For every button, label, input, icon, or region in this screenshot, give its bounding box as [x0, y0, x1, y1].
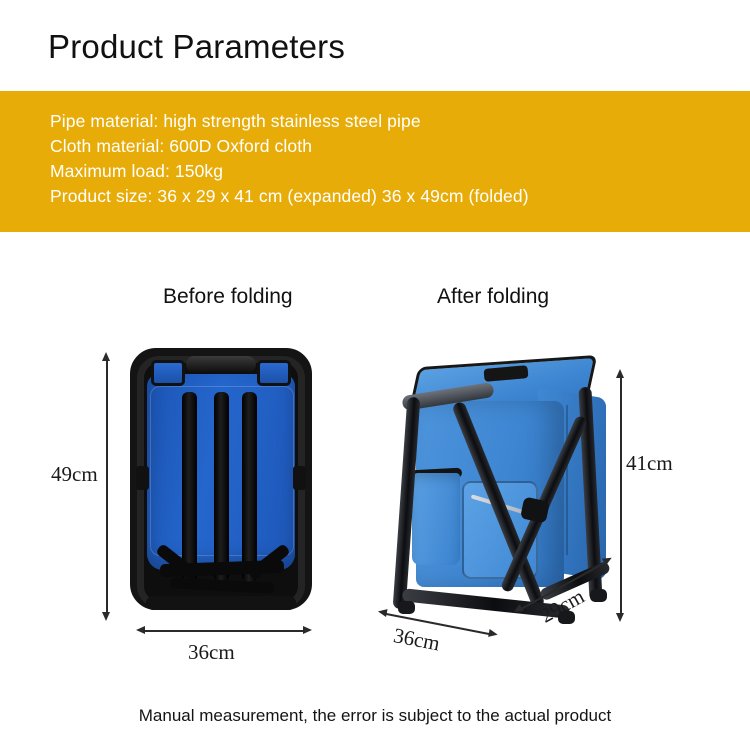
- shoulder-strap-right: [242, 392, 257, 582]
- bag-side-seam: [566, 405, 568, 555]
- arrow-head-left: [377, 607, 387, 617]
- shoulder-strap-center: [214, 392, 229, 582]
- arrow-head-up: [616, 369, 624, 378]
- caption-before-folding: Before folding: [163, 285, 293, 309]
- figure-before-folding: 49cm 36cm: [70, 330, 370, 675]
- dimension-label-width: 36cm: [188, 640, 235, 665]
- product-parameters-page: Product Parameters Pipe material: high s…: [0, 0, 750, 750]
- arrow-head-right: [488, 629, 498, 639]
- spec-line-cloth-material: Cloth material: 600D Oxford cloth: [50, 134, 730, 159]
- dimension-line-vertical: [620, 377, 622, 613]
- arrow-head-up: [102, 352, 110, 361]
- bottom-frame-bar: [146, 596, 296, 610]
- spec-band: Pipe material: high strength stainless s…: [0, 91, 750, 232]
- stool-open-illustration: [388, 353, 618, 633]
- foot-cap-front-left: [398, 601, 415, 614]
- figure-after-folding: 41cm 36cm 29cm: [370, 335, 700, 675]
- top-flap-tab-right: [257, 360, 291, 386]
- caption-after-folding: After folding: [437, 285, 549, 309]
- side-buckle-right: [293, 466, 306, 490]
- side-mesh-pocket: [412, 473, 460, 565]
- spec-line-pipe-material: Pipe material: high strength stainless s…: [50, 109, 730, 134]
- foot-cap-rear-right: [590, 589, 607, 602]
- arrow-head-down: [102, 612, 110, 621]
- side-buckle-left: [136, 466, 149, 490]
- page-title: Product Parameters: [48, 28, 345, 66]
- backpack-folded-illustration: [130, 348, 312, 618]
- dimension-line-vertical: [106, 360, 108, 612]
- arrow-head-down: [616, 613, 624, 622]
- dimension-label-height: 49cm: [51, 462, 98, 487]
- spec-line-maximum-load: Maximum load: 150kg: [50, 159, 730, 184]
- carry-handle: [186, 356, 256, 373]
- arrow-head-left: [136, 626, 145, 634]
- footer-note: Manual measurement, the error is subject…: [0, 706, 750, 726]
- spec-line-product-size: Product size: 36 x 29 x 41 cm (expanded)…: [50, 184, 730, 209]
- dimension-line-horizontal: [144, 630, 304, 632]
- top-flap-tab-left: [151, 360, 185, 386]
- shoulder-strap-left: [182, 392, 197, 582]
- dimension-label-height: 41cm: [626, 451, 673, 476]
- spec-list: Pipe material: high strength stainless s…: [50, 109, 730, 209]
- arrow-head-right: [303, 626, 312, 634]
